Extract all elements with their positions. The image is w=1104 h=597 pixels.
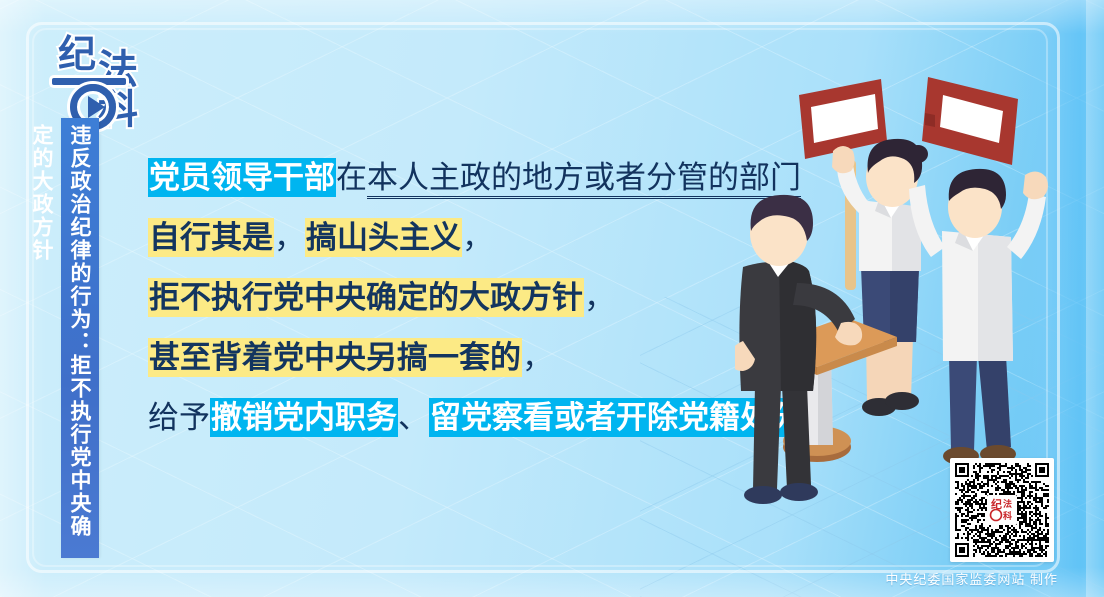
qr-code[interactable]: 纪 法 科	[950, 458, 1054, 562]
line-5-segment-1: 给予	[148, 400, 210, 435]
svg-text:法: 法	[1003, 498, 1012, 509]
line-2-segment-3: 搞山头主义	[305, 218, 462, 257]
line-3-segment-1: 拒不执行党中央确定的大政方针	[148, 278, 584, 317]
line-3: 拒不执行党中央确定的大政方针，	[148, 268, 768, 328]
right-edge-highlight	[1086, 0, 1104, 597]
line-3-segment-2: ，	[584, 280, 615, 315]
logo-char-ji: 纪	[58, 36, 96, 74]
line-2-segment-2: ，	[274, 220, 305, 255]
line-2-segment-4: ，	[462, 220, 493, 255]
line-1-segment-1: 党员领导干部	[148, 158, 336, 197]
svg-text:科: 科	[1003, 510, 1012, 521]
poster-canvas: 纪 法 科 违反政治纪律的行为：拒不执行党中央确定的大政方针 党员领导干部在本人…	[0, 0, 1104, 597]
man-raising-sign	[909, 169, 1048, 465]
line-1: 党员领导干部在本人主政的地方或者分管的部门	[148, 148, 768, 208]
play-triangle-icon	[88, 96, 105, 118]
line-5: 给予撤销党内职务、留党察看或者开除党籍处分。	[148, 388, 768, 448]
qr-center-logo: 纪 法 科	[987, 495, 1017, 525]
line-4-segment-1: 甚至背着党中央另搞一套的	[148, 338, 522, 377]
isometric-meeting-illustration	[735, 55, 1075, 525]
line-5-segment-3: 、	[398, 400, 429, 435]
line-2-segment-1: 自行其是	[148, 218, 274, 257]
line-4-segment-2: ，	[522, 340, 553, 375]
footer-credit: 中央纪委国家监委网站 制作	[885, 569, 1058, 588]
line-2: 自行其是，搞山头主义，	[148, 208, 768, 268]
line-4: 甚至背着党中央另搞一套的，	[148, 328, 768, 388]
vertical-category-ribbon: 违反政治纪律的行为：拒不执行党中央确定的大政方针	[61, 118, 99, 558]
main-text-block: 党员领导干部在本人主政的地方或者分管的部门自行其是，搞山头主义，拒不执行党中央确…	[148, 148, 768, 448]
red-sign-right	[922, 77, 1018, 165]
line-1-segment-2: 在	[336, 160, 367, 195]
line-5-segment-2: 撤销党内职务	[210, 398, 398, 437]
